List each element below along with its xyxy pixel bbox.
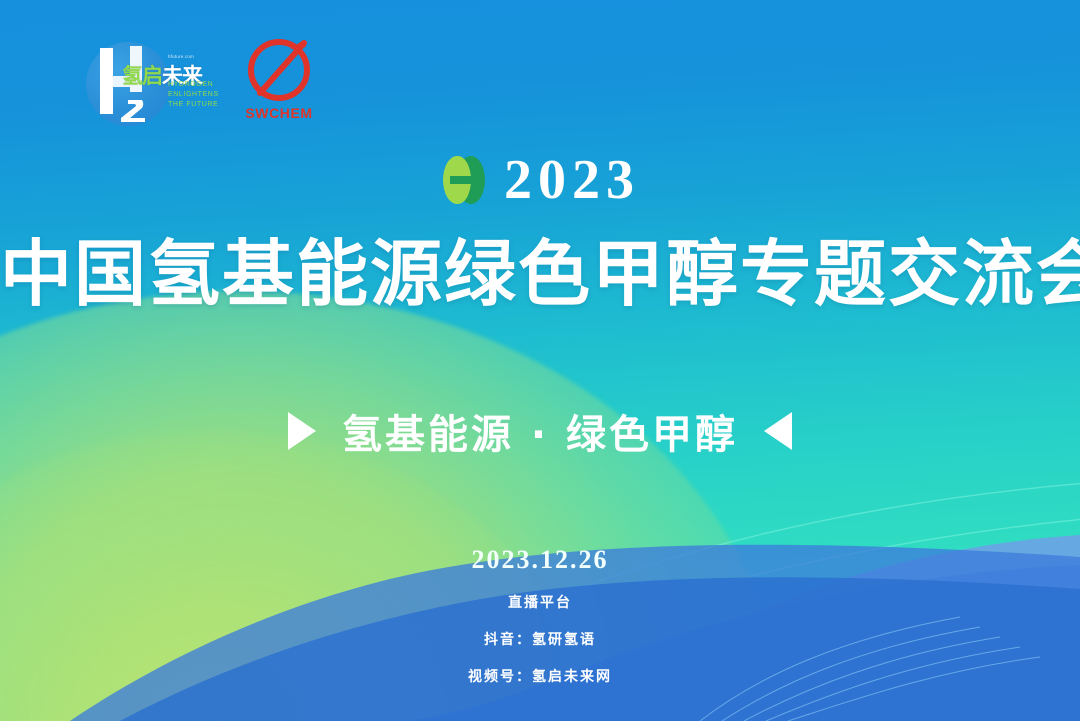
logo-micro-text: hfuture.com xyxy=(168,54,194,59)
tagline-line-1: HYDROGEN xyxy=(168,80,219,90)
channel-douyin: 抖音：氢研氢语 xyxy=(0,629,1080,649)
swchem-logo: SWCHEM xyxy=(236,33,322,129)
channel-video: 视频号：氢启未来网 xyxy=(0,666,1080,686)
play-triangle-right-icon xyxy=(288,412,316,450)
subtitle-row: 氢基能源 · 绿色甲醇 xyxy=(0,402,1080,460)
green-leaf-h-icon xyxy=(440,154,488,206)
footer-info: 直播平台 抖音：氢研氢语 视频号：氢启未来网 xyxy=(0,592,1080,703)
event-poster: 氢启未来 hfuture.com HYDROGEN ENLIGHTENS THE… xyxy=(0,0,1080,721)
year-label: 2023 xyxy=(504,152,640,208)
page-title: 中国氢基能源绿色甲醇专题交流会 xyxy=(0,238,1080,310)
year-row: 2023 xyxy=(0,152,1080,208)
swchem-wordmark: SWCHEM xyxy=(236,105,322,121)
tagline-line-2: ENLIGHTENS xyxy=(168,90,219,100)
event-date: 2023.12.26 xyxy=(0,545,1080,575)
hydrogen-future-logo: 氢启未来 hfuture.com HYDROGEN ENLIGHTENS THE… xyxy=(82,32,210,130)
subtitle-label: 氢基能源 · 绿色甲醇 xyxy=(342,402,738,460)
platform-label: 直播平台 xyxy=(0,592,1080,612)
play-triangle-left-icon xyxy=(764,412,792,450)
tagline-line-3: THE FUTURE xyxy=(168,100,219,110)
logo-bar: 氢启未来 hfuture.com HYDROGEN ENLIGHTENS THE… xyxy=(82,32,322,130)
logo-english-tagline: HYDROGEN ENLIGHTENS THE FUTURE xyxy=(168,80,219,110)
swchem-mark-icon xyxy=(244,35,314,105)
